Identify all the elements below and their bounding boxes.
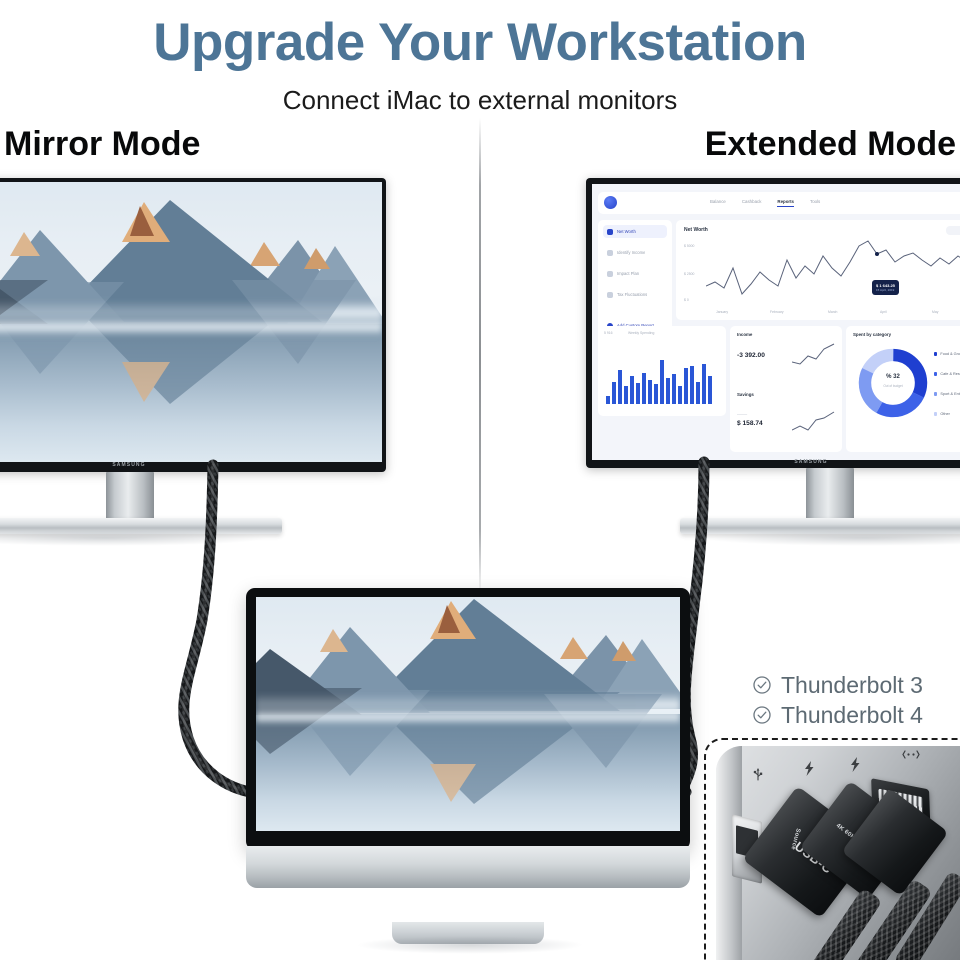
net-worth-title: Net Worth xyxy=(684,227,708,233)
left-monitor-brand: SAMSUNG xyxy=(94,462,164,468)
y-tick: $ 0 xyxy=(684,298,689,302)
tab-reports[interactable]: Reports xyxy=(777,199,794,207)
income-sparkline xyxy=(792,342,836,368)
product-marketing-image: Upgrade Your Workstation Connect iMac to… xyxy=(0,0,960,960)
x-tick: February xyxy=(770,310,784,314)
sidebar-item-label: Net Worth xyxy=(617,229,636,234)
sidebar-item-identify-income[interactable]: Identify Income xyxy=(603,246,667,259)
stat-value-savings: $ 158.74 xyxy=(737,420,763,427)
thunderbolt-icon xyxy=(848,756,863,773)
report-icon xyxy=(607,229,613,235)
stat-label-income: Income xyxy=(737,332,752,337)
dock-photo-inset: USB-C Source 4K 60Hz xyxy=(704,738,960,960)
y-tick: $ 2500 xyxy=(684,272,694,276)
category-donut-chart xyxy=(856,346,930,420)
net-worth-card: Net Worth $ 5000 $ 2500 $ 0 $ 1 643.25 1… xyxy=(676,220,960,320)
check-circle-icon xyxy=(752,705,772,725)
dashboard-logo-icon[interactable] xyxy=(604,196,617,209)
date-range-filter[interactable] xyxy=(946,226,960,235)
chart-tooltip: $ 1 643.25 15 April, 2019 xyxy=(872,280,899,295)
legend-item: Sport & Entertainment $ 88.10 xyxy=(934,392,960,396)
imac-screen xyxy=(256,597,680,831)
right-monitor-neck xyxy=(806,468,854,522)
legend-label: Sport & Entertainment xyxy=(940,392,960,396)
net-worth-line-chart xyxy=(706,238,960,304)
tooltip-date: 15 April, 2019 xyxy=(876,288,895,292)
left-monitor-screen xyxy=(0,182,382,462)
savings-sparkline xyxy=(792,410,836,436)
sidebar-item-label: Impact Plan xyxy=(617,271,639,276)
dashboard-nav[interactable]: Balance Cashback Reports Tools xyxy=(710,199,820,207)
feature-label: Thunderbolt 4 xyxy=(781,700,923,730)
plan-icon xyxy=(607,271,613,277)
thunderbolt-icon xyxy=(802,760,817,777)
page-title: Upgrade Your Workstation xyxy=(0,12,960,74)
legend-item: Cafe & Restaurants $ 102.30 xyxy=(934,372,960,376)
legend-label: Cafe & Restaurants xyxy=(940,372,960,376)
mountain-wallpaper-imac xyxy=(256,597,680,831)
bars-title: Weekly Spending xyxy=(628,331,654,335)
mirror-mode-label: Mirror Mode xyxy=(4,122,200,166)
sidebar-item-tax-fluctuations[interactable]: Tax Fluctuations xyxy=(603,288,667,301)
tab-tools[interactable]: Tools xyxy=(810,199,820,207)
donut-center-label: Out of budget xyxy=(846,384,940,388)
imac-shadow xyxy=(356,936,584,954)
legend-label: Food & Grocery xyxy=(940,352,960,356)
legend-swatch xyxy=(934,392,937,395)
x-tick: January xyxy=(716,310,728,314)
legend-swatch xyxy=(934,412,937,415)
income-icon xyxy=(607,250,613,256)
stats-card: Income -3 392.00 Savings $ 158.74 ——— xyxy=(730,326,842,452)
stat-label-savings: Savings xyxy=(737,392,754,397)
right-monitor-brand: SAMSUNG xyxy=(776,459,846,465)
right-monitor-shadow xyxy=(700,530,960,546)
imac-chin xyxy=(246,846,690,888)
cable-left xyxy=(184,465,250,792)
feature-item-thunderbolt-3: Thunderbolt 3 xyxy=(752,670,923,700)
y-tick: $ 5000 xyxy=(684,244,694,248)
spent-by-category-card: Spent by category % 32 Out of budget Foo… xyxy=(846,326,960,452)
x-tick: March xyxy=(828,310,837,314)
feature-item-thunderbolt-4: Thunderbolt 4 xyxy=(752,700,923,730)
usb-icon xyxy=(750,766,766,782)
legend-item: Food & Grocery $ 156.45 xyxy=(934,352,960,356)
sidebar-item-label: Tax Fluctuations xyxy=(617,292,647,297)
category-title: Spent by category xyxy=(853,332,891,337)
page-subtitle: Connect iMac to external monitors xyxy=(0,84,960,116)
left-monitor-shadow xyxy=(0,530,270,546)
tab-balance[interactable]: Balance xyxy=(710,199,726,207)
dashboard-app: Balance Cashback Reports Tools Elisa Gib… xyxy=(592,184,960,460)
legend-item: Other $ 45.20 xyxy=(934,412,960,416)
stat-value-income: -3 392.00 xyxy=(737,352,765,359)
right-monitor-screen: Balance Cashback Reports Tools Elisa Gib… xyxy=(592,184,960,460)
tab-cashback[interactable]: Cashback xyxy=(742,199,762,207)
weekly-spending-bar-chart xyxy=(606,346,720,404)
legend-label: Other xyxy=(940,412,960,416)
x-tick: April xyxy=(880,310,887,314)
donut-center-value: % 32 xyxy=(846,374,940,380)
x-tick: May xyxy=(932,310,938,314)
tax-icon xyxy=(607,292,613,298)
check-circle-icon xyxy=(752,675,772,695)
ethernet-icon xyxy=(902,748,920,762)
legend-swatch xyxy=(934,352,937,355)
sidebar-item-label: Identify Income xyxy=(617,250,645,255)
sidebar-item-net-worth[interactable]: Net Worth xyxy=(603,225,667,238)
mountain-wallpaper-left xyxy=(0,182,382,462)
feature-label: Thunderbolt 3 xyxy=(781,670,923,700)
bars-value: 5 916 xyxy=(604,331,613,335)
sidebar-item-impact-plan[interactable]: Impact Plan xyxy=(603,267,667,280)
extended-mode-label: Extended Mode xyxy=(705,122,956,166)
legend-swatch xyxy=(934,372,937,375)
section-divider xyxy=(479,118,481,596)
thunderbolt-feature-list: Thunderbolt 3 Thunderbolt 4 xyxy=(752,670,923,730)
weekly-spending-card: 5 916 Weekly Spending xyxy=(598,326,726,416)
